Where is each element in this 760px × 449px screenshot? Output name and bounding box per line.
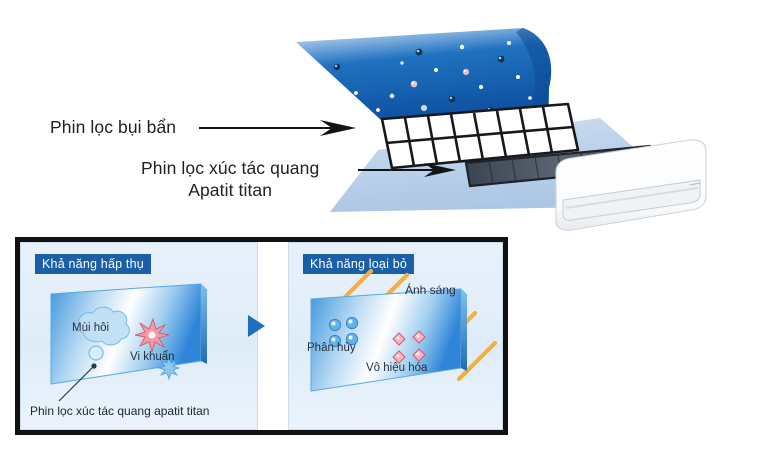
label-deactivate: Vô hiệu hóa [366,362,427,374]
label-light: Ánh sáng [405,283,456,297]
label-bacteria: Vi khuẩn [130,351,175,363]
panel-right-removal: Khả năng loại bỏ [288,242,503,430]
figure-root: Phin lọc bụi bẩn Phin lọc xúc tác quang … [0,0,760,449]
callout-dust-filter: Phin lọc bụi bẩn [50,116,176,138]
absorption-plate-graphic [21,243,257,429]
callout-photocatalytic-line1: Phin lọc xúc tác quang [141,157,319,179]
captured-particle [89,346,103,360]
callout-arrow-dust-filter [199,120,356,136]
removal-plate-graphic [289,243,502,429]
play-triangle-icon [248,315,265,337]
label-odor: Mùi hôi [72,322,109,334]
callout-photocatalytic-line2: Apatit titan [141,179,319,201]
label-decompose: Phân hủy [307,342,356,354]
label-filter-caption: Phin lọc xúc tác quang apatit titan [30,404,209,418]
panel-left-absorption: Khả năng hấp thụ [20,242,258,430]
callout-photocatalytic-filter: Phin lọc xúc tác quang Apatit titan [141,157,319,202]
